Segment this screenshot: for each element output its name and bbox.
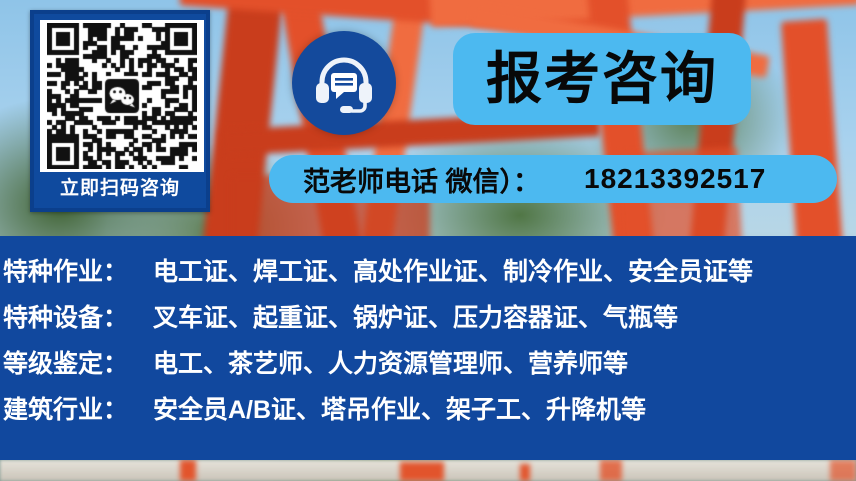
category-row: 特种设备： 叉车证、起重证、锅炉证、压力容器证、气瓶等 [0,298,856,344]
category-value: 叉车证、起重证、锅炉证、压力容器证、气瓶等 [153,298,678,334]
contact-label: 范老师电话 微信）： [303,160,540,199]
category-label: 等级鉴定： [3,344,153,380]
poster-root: 立即扫码咨询 报考咨询 范老师电话 微信）： 18213392517 特种作业：… [0,0,856,481]
category-label: 特种作业： [3,252,153,288]
qr-code-icon[interactable] [47,23,197,169]
qr-card[interactable]: 立即扫码咨询 [30,10,210,212]
title-badge: 报考咨询 [453,33,751,125]
qr-code-frame [40,20,204,172]
headset-support-icon [292,31,396,135]
category-value: 电工证、焊工证、高处作业证、制冷作业、安全员证等 [153,252,753,288]
category-label: 特种设备： [3,298,153,334]
category-row: 等级鉴定： 电工、茶艺师、人力资源管理师、营养师等 [0,344,856,390]
background-photo-bottom [0,460,856,481]
category-value: 安全员A/B证、塔吊作业、架子工、升降机等 [153,390,646,426]
contact-number[interactable]: 18213392517 [584,163,766,195]
category-row: 特种作业： 电工证、焊工证、高处作业证、制冷作业、安全员证等 [0,252,856,298]
category-value: 电工、茶艺师、人力资源管理师、营养师等 [153,344,628,380]
categories-panel: 特种作业： 电工证、焊工证、高处作业证、制冷作业、安全员证等 特种设备： 叉车证… [0,236,856,460]
qr-label: 立即扫码咨询 [34,168,206,204]
category-label: 建筑行业： [3,390,153,426]
title-text: 报考咨询 [486,51,718,107]
category-row: 建筑行业： 安全员A/B证、塔吊作业、架子工、升降机等 [0,390,856,436]
contact-pill[interactable]: 范老师电话 微信）： 18213392517 [269,155,837,203]
